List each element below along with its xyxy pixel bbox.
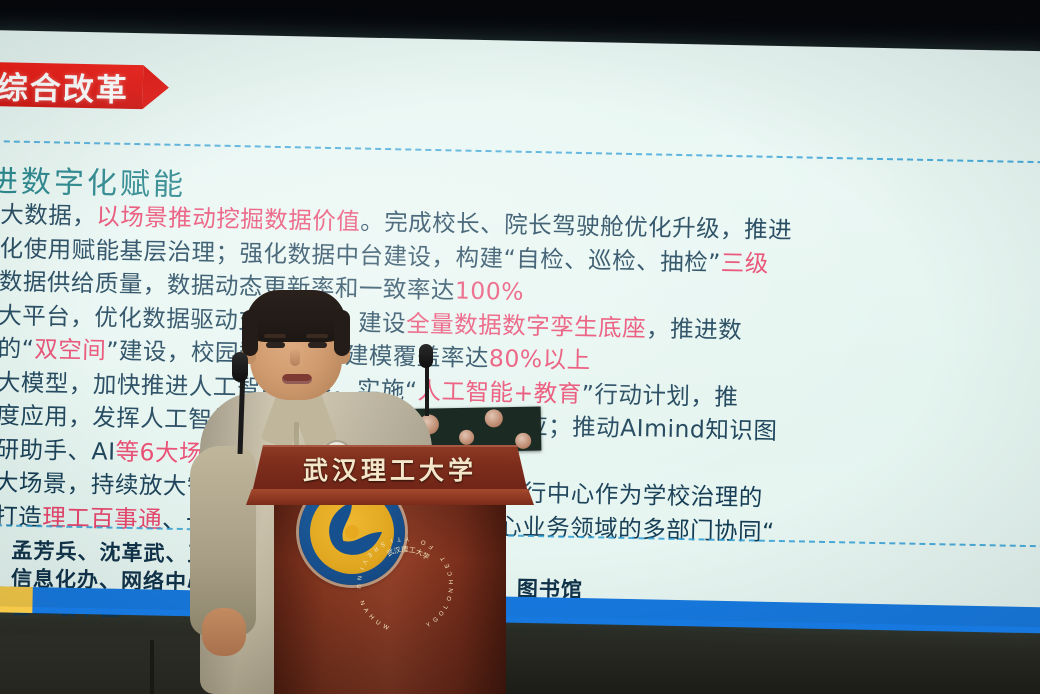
emblem-ring-char: Y [405,535,410,541]
speaker-hair [246,290,346,342]
emblem-ring-char: N [355,575,362,581]
slide-text-segment: 。完成校长、院长驾驶舱优化升级，推进 [360,208,792,245]
slide-text-segment: 三级 [721,248,770,277]
slide-bottom-yellow-accent [0,586,33,613]
emblem-ring-char: U [355,584,361,589]
slide-text-segment: 双空间 [34,335,107,364]
speaker-hand [202,608,246,656]
ribbon-arrow-tip [142,65,169,110]
emblem-ring-char: I [390,537,394,543]
slide-text-segment: 空间的“ [0,333,35,363]
slide-text-segment: 聚焦大数据， [0,199,97,230]
emblem-ring-char: I [358,566,364,570]
slide-text-segment: ”行动计划，推 [581,380,738,411]
slide-text-segment: AI科研助手、AI [0,434,116,465]
screenshot-stage: 综合改革 推进数字化赋能 聚焦大数据，以场景推动挖掘数据价值。完成校长、院长驾驶… [0,0,1040,694]
speaker-eye-right [308,342,327,348]
stage-wall-seam [150,640,154,694]
emblem-ring-char: E [365,551,372,558]
speaker-eye-left [266,342,285,348]
slide-text-segment: 以场景推动挖掘数据价值 [96,202,361,235]
emblem-ring-char: V [360,558,367,565]
ribbon-body: 综合改革 [0,61,143,109]
slide-text-segment: 100% [455,276,525,305]
speaker-mouth [282,374,312,384]
ribbon-label: 综合改革 [0,62,129,110]
podium-nameplate: 武汉理工大学 [252,451,528,487]
slide-ribbon-banner: 综合改革 [0,61,169,109]
emblem-ring-char: N [448,588,455,594]
slide-text-segment: ，推进数 [646,314,743,344]
emblem-ring-char: R [371,545,378,553]
emblem-ring-char: T [396,535,401,541]
slide-text-segment: 全量数据数字孪生底座 [406,309,647,342]
speaker-nose [290,348,300,366]
slide-section-heading: 推进数字化赋能 [0,155,186,204]
speaker-hair-side-right [334,310,350,356]
speaker-eyebrow-left [264,334,286,338]
microphone-secondary-head [419,344,433,368]
microphone-secondary-stem [425,360,429,416]
podium-lip [246,489,534,505]
emblem-ring-char: S [379,540,386,547]
speaker-eyebrow-right [306,334,328,338]
slide-text-segment: 人工智能+教育 [417,376,582,407]
slide-text-segment: 80%以上 [489,344,591,374]
speaker-hair-side-left [242,310,258,356]
podium: WUHAN UNIVERSITY OF TECHNOLOGY武汉理工大学 武汉理… [252,445,528,694]
emblem-ring-char: H [449,580,455,585]
microphone-head [232,352,248,382]
